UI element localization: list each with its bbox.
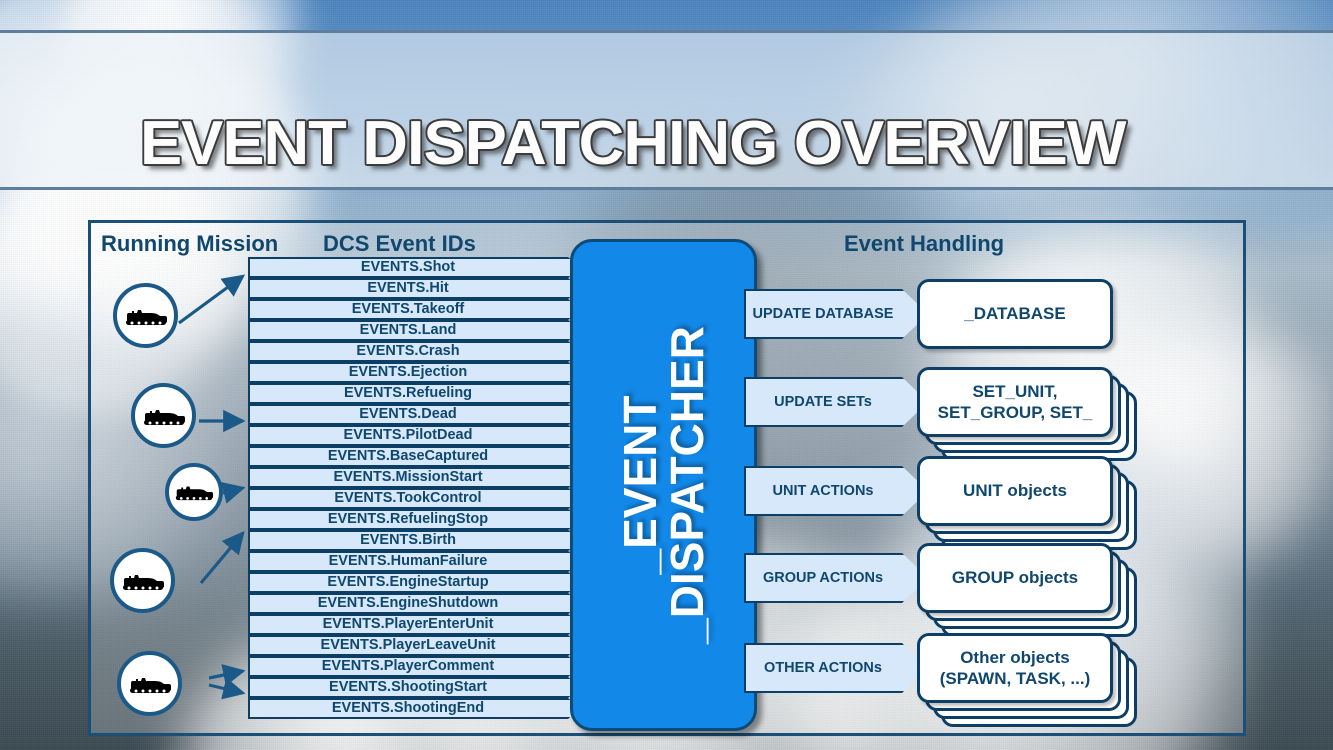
- event-label: EVENTS.Land: [248, 320, 568, 341]
- event-label: EVENTS.Dead: [248, 404, 568, 425]
- event-label: EVENTS.HumanFailure: [248, 551, 568, 572]
- event-row[interactable]: EVENTS.EngineShutdown: [248, 593, 581, 614]
- column-header-dcs-event-ids: DCS Event IDs: [323, 231, 476, 257]
- card-face: UNIT objects: [917, 456, 1113, 526]
- event-label: EVENTS.Crash: [248, 341, 568, 362]
- event-row[interactable]: EVENTS.Takeoff: [248, 299, 581, 320]
- event-dispatcher-label: _EVENT _DISPATCHER: [617, 326, 711, 644]
- card-database[interactable]: _DATABASE: [917, 279, 1113, 349]
- event-row[interactable]: EVENTS.Shot: [248, 257, 581, 278]
- tank-icon-1: [113, 283, 178, 348]
- event-label: EVENTS.Shot: [248, 257, 568, 278]
- card-stack-group-objects[interactable]: GROUP objects: [917, 543, 1113, 613]
- event-row[interactable]: EVENTS.Dead: [248, 404, 581, 425]
- event-label: EVENTS.BaseCaptured: [248, 446, 568, 467]
- action-label: UNIT ACTIONs: [744, 466, 902, 516]
- dispatcher-line-1: _EVENT: [614, 396, 666, 575]
- action-group-actions[interactable]: GROUP ACTIONs: [744, 553, 928, 603]
- event-label: EVENTS.PilotDead: [248, 425, 568, 446]
- card-stack-other-objects[interactable]: Other objects (SPAWN, TASK, ...): [917, 633, 1113, 703]
- card-label: _DATABASE: [958, 303, 1071, 324]
- card-face: SET_UNIT, SET_GROUP, SET_: [917, 367, 1113, 437]
- tank-icon-3: [165, 463, 223, 521]
- event-dispatcher-block[interactable]: _EVENT _DISPATCHER: [570, 239, 757, 731]
- event-label: EVENTS.RefuelingStop: [248, 509, 568, 530]
- event-row[interactable]: EVENTS.Ejection: [248, 362, 581, 383]
- card-label: Other objects (SPAWN, TASK, ...): [934, 647, 1096, 690]
- page-title: EVENT DISPATCHING OVERVIEW: [140, 108, 1125, 179]
- card-face: GROUP objects: [917, 543, 1113, 613]
- event-label: EVENTS.PlayerLeaveUnit: [248, 635, 568, 656]
- event-row[interactable]: EVENTS.PlayerEnterUnit: [248, 614, 581, 635]
- action-label: UPDATE DATABASE: [744, 289, 902, 339]
- event-row[interactable]: EVENTS.Land: [248, 320, 581, 341]
- action-other-actions[interactable]: OTHER ACTIONs: [744, 643, 928, 693]
- tank-icon-2: [131, 383, 196, 448]
- event-row[interactable]: EVENTS.RefuelingStop: [248, 509, 581, 530]
- event-row[interactable]: EVENTS.ShootingStart: [248, 677, 581, 698]
- action-label: UPDATE SETs: [744, 377, 902, 427]
- event-row[interactable]: EVENTS.PlayerComment: [248, 656, 581, 677]
- card-label: SET_UNIT, SET_GROUP, SET_: [932, 381, 1099, 424]
- event-row[interactable]: EVENTS.MissionStart: [248, 467, 581, 488]
- event-label: EVENTS.ShootingEnd: [248, 698, 568, 719]
- event-label: EVENTS.PlayerEnterUnit: [248, 614, 568, 635]
- event-row[interactable]: EVENTS.Refueling: [248, 383, 581, 404]
- column-header-running-mission: Running Mission: [101, 231, 278, 257]
- action-label: GROUP ACTIONs: [744, 553, 902, 603]
- card-stack-unit-objects[interactable]: UNIT objects: [917, 456, 1113, 526]
- action-update-sets[interactable]: UPDATE SETs: [744, 377, 928, 427]
- tank-icon-5: [117, 651, 182, 716]
- diagram-panel: Running Mission DCS Event IDs Event Hand…: [88, 220, 1246, 736]
- column-header-event-handling: Event Handling: [844, 231, 1004, 257]
- event-label: EVENTS.Refueling: [248, 383, 568, 404]
- dispatcher-line-2: _DISPATCHER: [664, 326, 711, 644]
- card-stack-sets[interactable]: SET_UNIT, SET_GROUP, SET_: [917, 367, 1113, 437]
- card-face: _DATABASE: [917, 279, 1113, 349]
- event-row[interactable]: EVENTS.HumanFailure: [248, 551, 581, 572]
- action-unit-actions[interactable]: UNIT ACTIONs: [744, 466, 928, 516]
- card-face: Other objects (SPAWN, TASK, ...): [917, 633, 1113, 703]
- title-band: EVENT DISPATCHING OVERVIEW: [0, 30, 1333, 190]
- dcs-event-id-list: EVENTS.Shot EVENTS.Hit EVENTS.Takeoff EV…: [248, 257, 581, 719]
- event-label: EVENTS.TookControl: [248, 488, 568, 509]
- event-row[interactable]: EVENTS.Crash: [248, 341, 581, 362]
- event-label: EVENTS.EngineStartup: [248, 572, 568, 593]
- event-row[interactable]: EVENTS.EngineStartup: [248, 572, 581, 593]
- card-label: GROUP objects: [946, 567, 1084, 588]
- card-label: UNIT objects: [957, 480, 1073, 501]
- event-row[interactable]: EVENTS.PlayerLeaveUnit: [248, 635, 581, 656]
- event-label: EVENTS.ShootingStart: [248, 677, 568, 698]
- event-label: EVENTS.EngineShutdown: [248, 593, 568, 614]
- event-row[interactable]: EVENTS.ShootingEnd: [248, 698, 581, 719]
- event-label: EVENTS.Hit: [248, 278, 568, 299]
- action-update-database[interactable]: UPDATE DATABASE: [744, 289, 928, 339]
- event-label: EVENTS.PlayerComment: [248, 656, 568, 677]
- event-row[interactable]: EVENTS.Birth: [248, 530, 581, 551]
- event-label: EVENTS.Takeoff: [248, 299, 568, 320]
- event-row[interactable]: EVENTS.TookControl: [248, 488, 581, 509]
- tank-icon-4: [110, 548, 175, 613]
- event-label: EVENTS.Ejection: [248, 362, 568, 383]
- event-row[interactable]: EVENTS.Hit: [248, 278, 581, 299]
- event-row[interactable]: EVENTS.PilotDead: [248, 425, 581, 446]
- event-label: EVENTS.MissionStart: [248, 467, 568, 488]
- action-label: OTHER ACTIONs: [744, 643, 902, 693]
- event-label: EVENTS.Birth: [248, 530, 568, 551]
- event-row[interactable]: EVENTS.BaseCaptured: [248, 446, 581, 467]
